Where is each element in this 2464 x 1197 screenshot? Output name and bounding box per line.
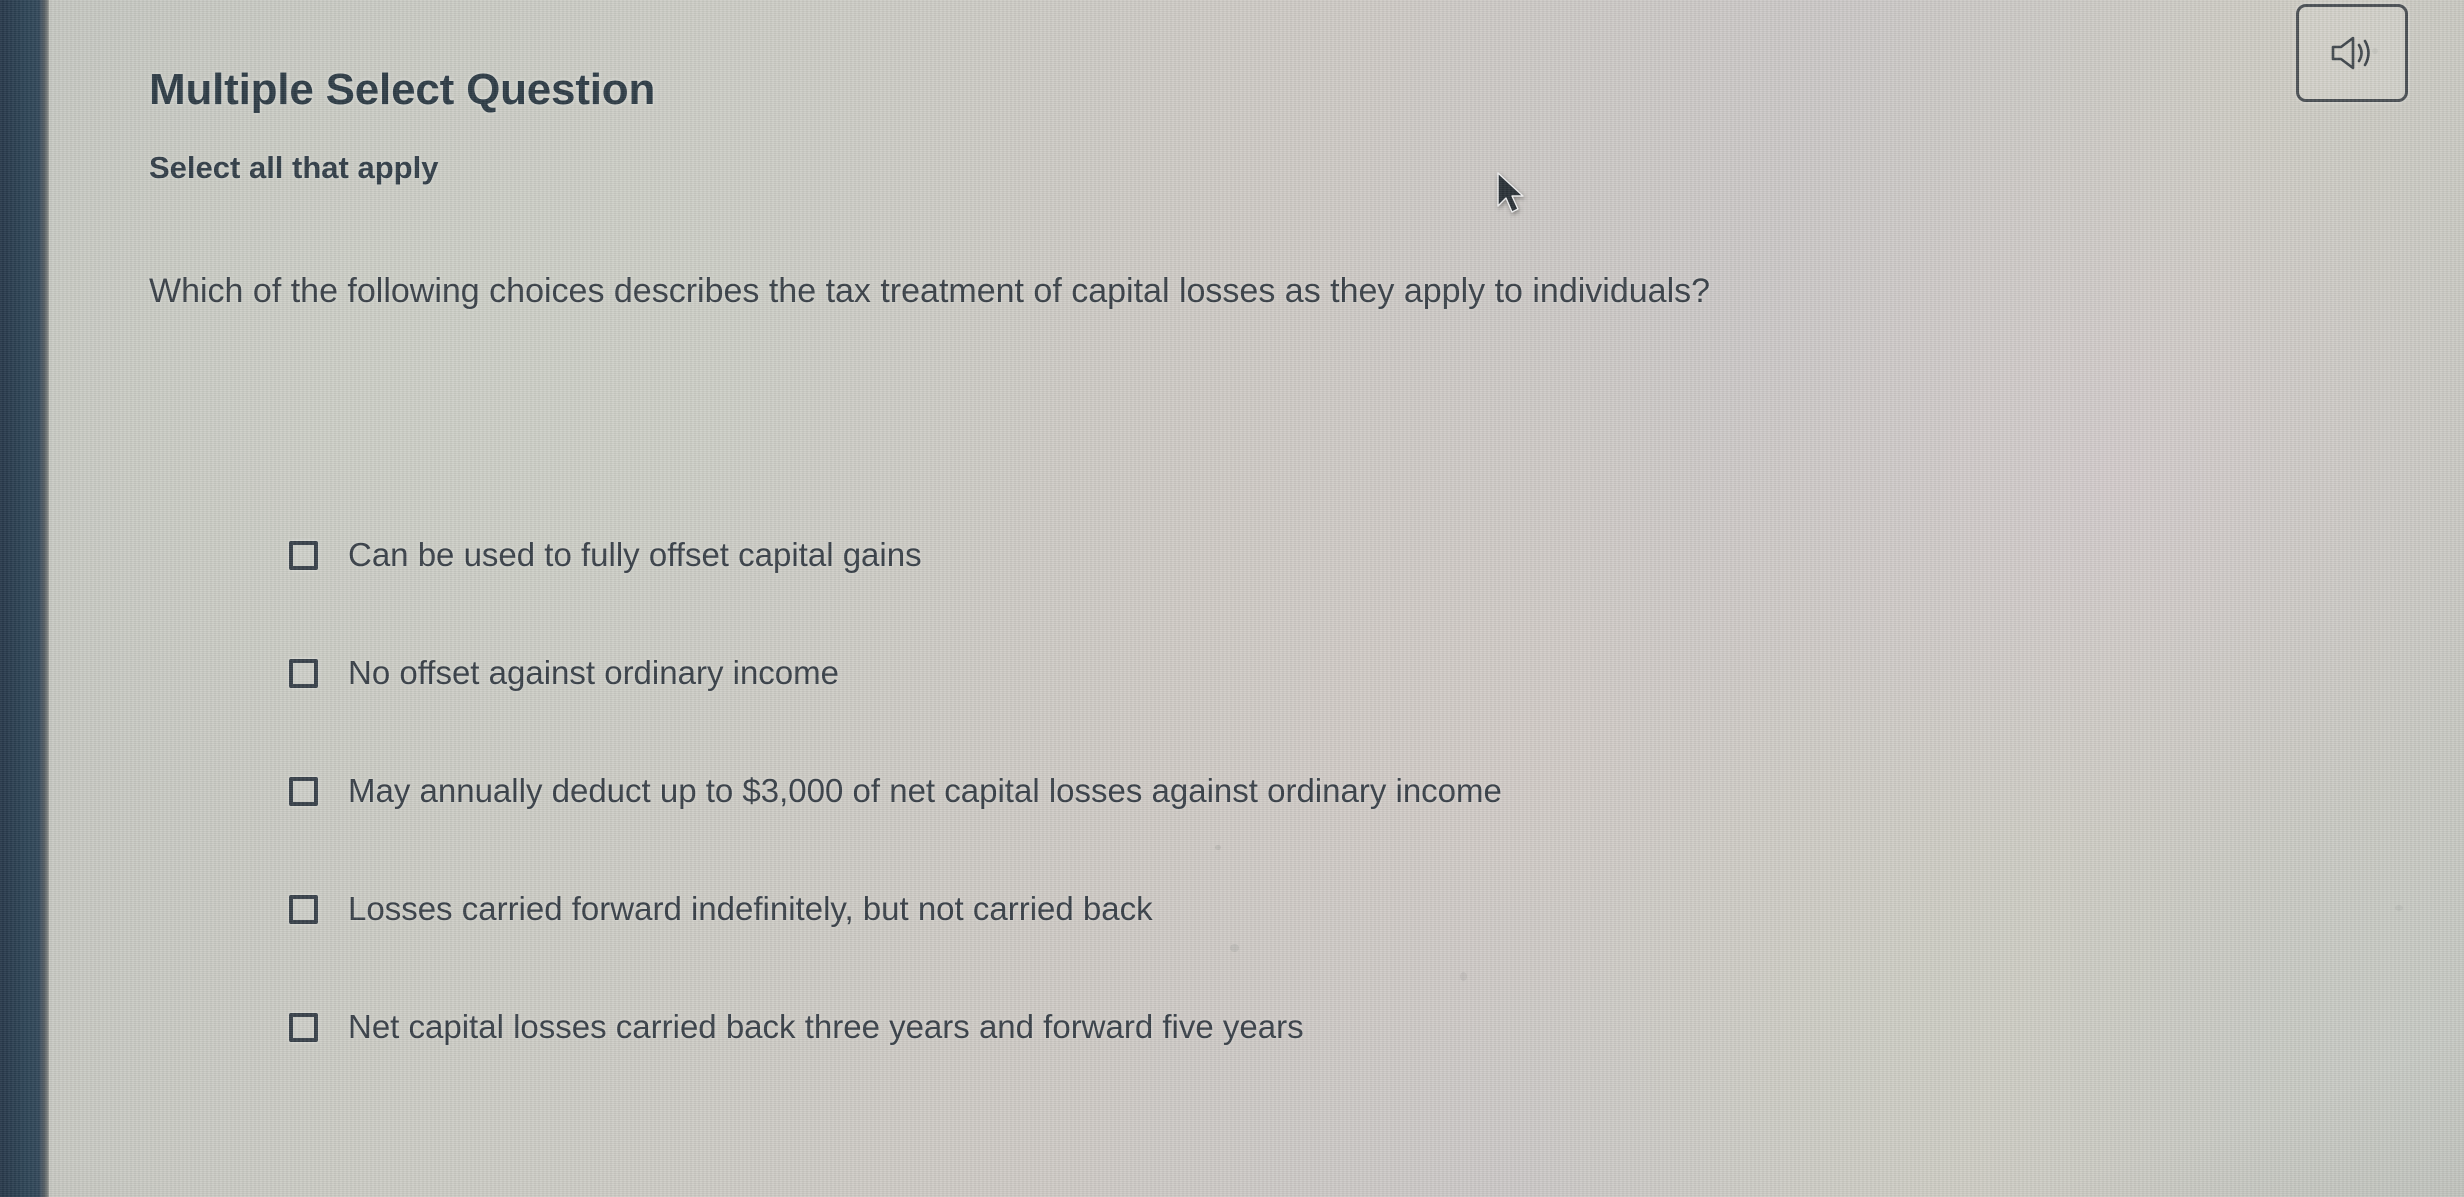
speaker-icon [2329,32,2375,74]
left-nav-strip [0,0,44,1197]
option-label[interactable]: No offset against ordinary income [348,654,839,692]
option-label[interactable]: Losses carried forward indefinitely, but… [348,890,1153,928]
instruction-text: Select all that apply [149,150,438,186]
option-label[interactable]: Can be used to fully offset capital gain… [348,536,922,574]
checkbox-icon[interactable] [289,895,318,924]
option-label[interactable]: Net capital losses carried back three ye… [348,1008,1304,1046]
option-row[interactable]: Net capital losses carried back three ye… [289,990,1502,1064]
options-list: Can be used to fully offset capital gain… [289,518,1502,1108]
checkbox-icon[interactable] [289,777,318,806]
checkbox-icon[interactable] [289,541,318,570]
option-row[interactable]: May annually deduct up to $3,000 of net … [289,754,1502,828]
option-row[interactable]: Can be used to fully offset capital gain… [289,518,1502,592]
question-text: Which of the following choices describes… [149,272,1710,311]
option-row[interactable]: Losses carried forward indefinitely, but… [289,872,1502,946]
question-content: Multiple Select Question Select all that… [49,0,2464,1197]
option-row[interactable]: No offset against ordinary income [289,636,1502,710]
quiz-screen: Multiple Select Question Select all that… [0,0,2464,1197]
audio-playback-button[interactable] [2296,4,2408,102]
option-label[interactable]: May annually deduct up to $3,000 of net … [348,772,1502,810]
checkbox-icon[interactable] [289,1013,318,1042]
checkbox-icon[interactable] [289,659,318,688]
page-title: Multiple Select Question [149,65,655,115]
